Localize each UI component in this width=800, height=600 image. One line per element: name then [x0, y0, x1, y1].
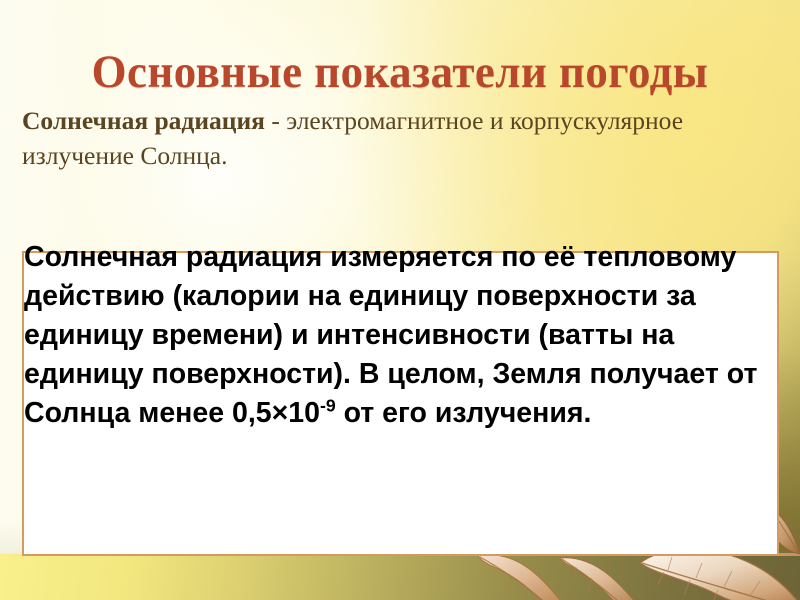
content-text-part2: от его излучения. [336, 397, 592, 429]
slide-canvas: Основные показатели погоды Солнечная рад… [0, 0, 800, 600]
content-paragraph: Солнечная радиация измеряется по её тепл… [24, 238, 766, 433]
exponent-superscript: -9 [320, 396, 336, 416]
background-bottom-strip [0, 554, 800, 600]
slide-title: Основные показатели погоды [18, 47, 782, 98]
subtitle-lead-term: Солнечная радиация [22, 106, 265, 135]
subtitle-paragraph: Солнечная радиация - электромагнитное и … [22, 104, 774, 173]
content-box-text: Солнечная радиация измеряется по её тепл… [24, 238, 766, 433]
